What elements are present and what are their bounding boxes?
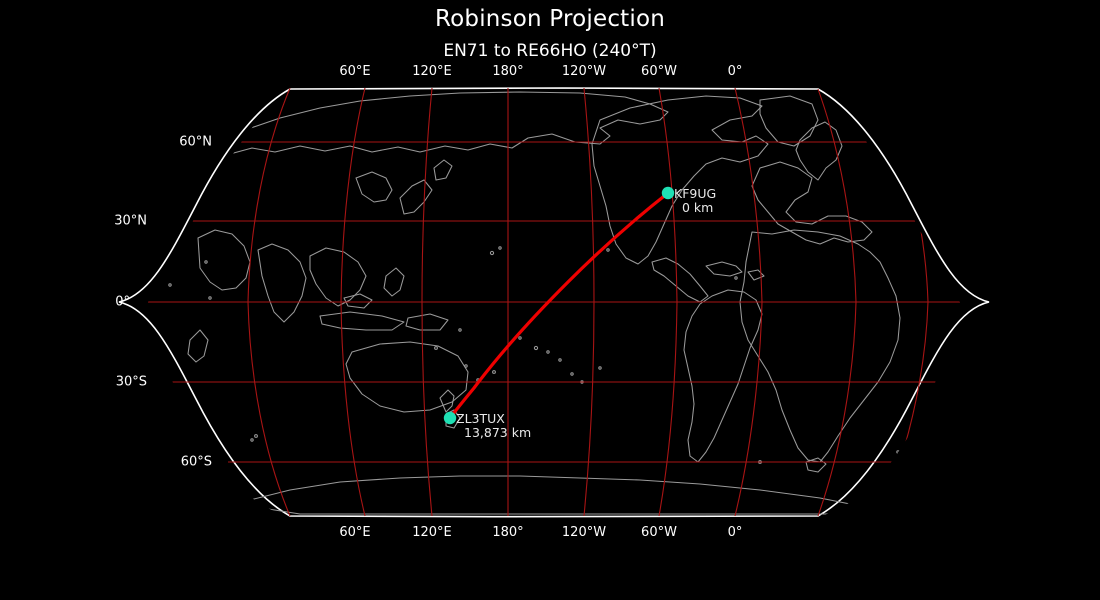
lon-label-bottom-180: 180° <box>492 525 523 540</box>
lon-label-top-60w: 60°W <box>641 64 677 79</box>
lat-label-30s: 30°S <box>116 375 147 390</box>
lon-label-bottom-120e: 120°E <box>412 525 452 540</box>
lon-label-bottom-60w: 60°W <box>641 525 677 540</box>
lon-label-top-120w: 120°W <box>562 64 606 79</box>
lon-label-top-0: 0° <box>728 64 743 79</box>
lat-label-60n: 60°N <box>179 135 212 150</box>
marker-callsign-destination: ZL3TUX <box>456 411 505 426</box>
lat-label-60s: 60°S <box>181 455 212 470</box>
lat-label-0: 0° <box>115 295 130 310</box>
lon-label-top-180: 180° <box>492 64 523 79</box>
lon-label-top-120e: 120°E <box>412 64 452 79</box>
marker-origin[interactable] <box>662 187 674 199</box>
marker-destination[interactable] <box>444 412 456 424</box>
marker-callsign-origin: KF9UG <box>674 186 716 201</box>
world-map <box>0 0 1100 600</box>
lon-label-top-60e: 60°E <box>339 64 370 79</box>
lon-label-bottom-120w: 120°W <box>562 525 606 540</box>
map-figure: Robinson Projection EN71 to RE66HO (240°… <box>0 0 1100 600</box>
marker-label-destination: ZL3TUX 13,873 km <box>456 412 531 440</box>
lon-label-bottom-60e: 60°E <box>339 525 370 540</box>
lon-label-bottom-0: 0° <box>728 525 743 540</box>
marker-distance-destination: 13,873 km <box>456 426 531 440</box>
marker-distance-origin: 0 km <box>674 201 716 215</box>
lat-label-30n: 30°N <box>114 214 147 229</box>
marker-label-origin: KF9UG 0 km <box>674 187 716 215</box>
